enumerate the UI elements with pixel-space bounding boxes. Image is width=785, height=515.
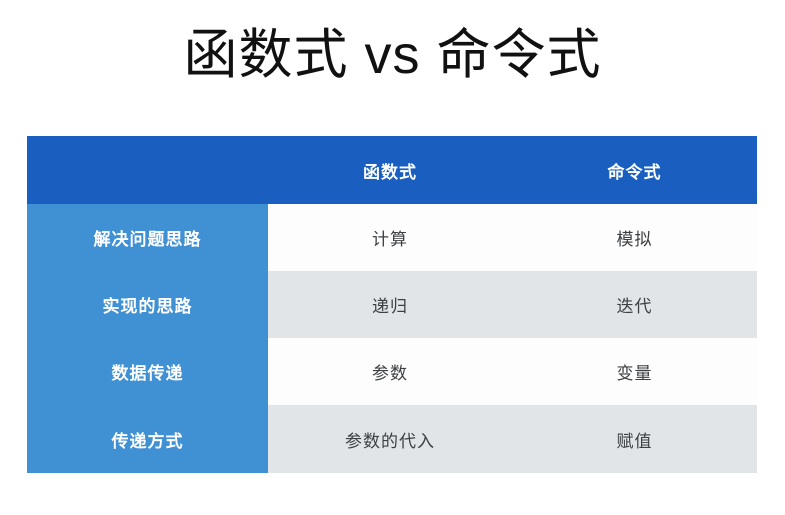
- cell-functional: 递归: [268, 271, 512, 338]
- table-row: 解决问题思路 计算 模拟: [27, 204, 757, 271]
- header-cell-functional: 函数式: [268, 136, 512, 204]
- table-row: 传递方式 参数的代入 赋值: [27, 405, 757, 473]
- cell-imperative: 模拟: [512, 204, 757, 271]
- header-cell-imperative: 命令式: [512, 136, 757, 204]
- cell-imperative: 赋值: [512, 405, 757, 473]
- cell-functional: 参数: [268, 338, 512, 405]
- cell-functional: 计算: [268, 204, 512, 271]
- table-header-row: 函数式 命令式: [27, 136, 757, 204]
- row-label: 实现的思路: [27, 271, 268, 338]
- row-label: 解决问题思路: [27, 204, 268, 271]
- comparison-table: 函数式 命令式 解决问题思路 计算 模拟 实现的思路 递归 迭代 数据传递 参数…: [27, 136, 757, 473]
- row-label: 数据传递: [27, 338, 268, 405]
- row-label: 传递方式: [27, 405, 268, 473]
- page-title: 函数式 vs 命令式: [0, 26, 785, 85]
- table-row: 数据传递 参数 变量: [27, 338, 757, 405]
- table-row: 实现的思路 递归 迭代: [27, 271, 757, 338]
- cell-imperative: 迭代: [512, 271, 757, 338]
- cell-functional: 参数的代入: [268, 405, 512, 473]
- header-cell-label-column: [27, 136, 268, 204]
- cell-imperative: 变量: [512, 338, 757, 405]
